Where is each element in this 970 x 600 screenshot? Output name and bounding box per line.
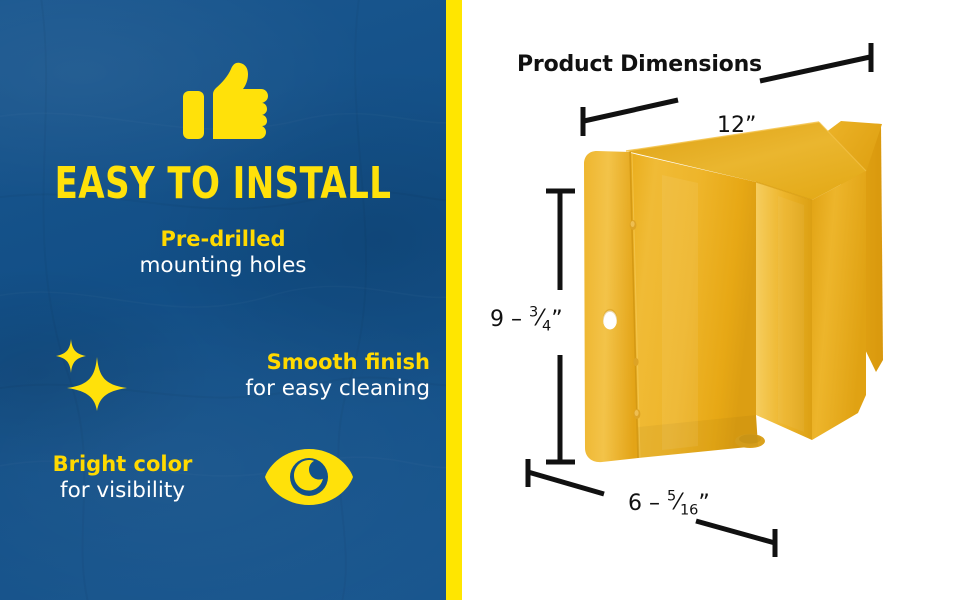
height-whole: 9	[490, 307, 504, 332]
infographic-canvas: EASY TO INSTALL Pre-drilled mounting hol…	[0, 0, 970, 600]
height-dash: –	[511, 307, 522, 332]
feature-title: Pre-drilled	[0, 226, 446, 252]
features-panel: EASY TO INSTALL Pre-drilled mounting hol…	[0, 0, 446, 600]
thumbs-up-icon	[183, 62, 269, 144]
vertical-divider	[446, 0, 462, 600]
height-fraction: 3⁄4	[529, 306, 551, 331]
dimension-label-depth: 6 – 5⁄16”	[628, 491, 710, 516]
depth-fraction: 5⁄16	[667, 490, 698, 515]
feature-item-pre-drilled: Pre-drilled mounting holes	[0, 226, 446, 279]
dimension-label-width: 12”	[717, 113, 756, 138]
height-denominator: 4	[542, 318, 551, 334]
eye-icon	[245, 447, 446, 507]
product-body	[584, 121, 883, 462]
feature-subtitle: for visibility	[0, 477, 245, 504]
feature-title: Smooth finish	[175, 349, 430, 375]
depth-dash: –	[649, 491, 660, 516]
height-inch-mark: ”	[551, 307, 562, 332]
page-title: EASY TO INSTALL	[31, 161, 415, 207]
feature-item-smooth-finish: Smooth finish for easy cleaning	[0, 337, 446, 413]
dimensions-panel: Product Dimensions	[462, 0, 970, 600]
height-numerator: 3	[529, 305, 538, 321]
dimension-label-height: 9 – 3⁄4”	[490, 307, 563, 332]
feature-subtitle: mounting holes	[0, 252, 446, 279]
depth-whole: 6	[628, 491, 642, 516]
feature-title: Bright color	[0, 451, 245, 477]
product-diagram	[462, 0, 970, 600]
feature-subtitle: for easy cleaning	[175, 375, 430, 402]
depth-inch-mark: ”	[698, 491, 709, 516]
feature-item-bright-color: Bright color for visibility	[0, 447, 446, 507]
depth-denominator: 16	[680, 502, 698, 518]
features-content: EASY TO INSTALL Pre-drilled mounting hol…	[0, 0, 446, 600]
depth-numerator: 5	[667, 489, 676, 505]
sparkle-icon	[0, 337, 175, 413]
